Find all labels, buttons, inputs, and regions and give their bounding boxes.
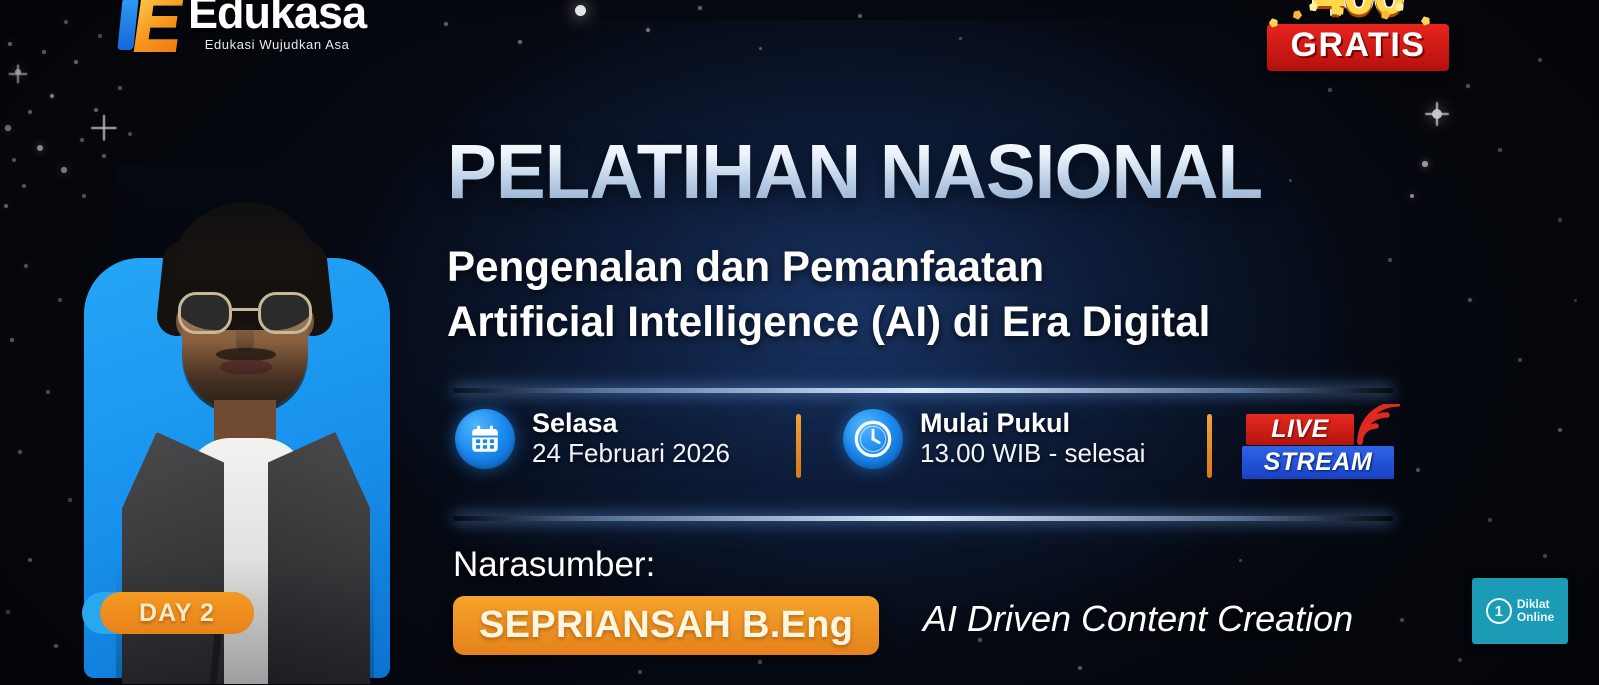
speaker-name-box: SEPRIANSAH B.Eng (453, 596, 879, 655)
star-dot (54, 644, 59, 649)
star-dot (58, 298, 61, 301)
poster-content: PELATIHAN NASIONAL Pengenalan dan Pemanf… (447, 0, 1397, 685)
star-dot (1518, 358, 1521, 361)
event-date-item: Selasa 24 Februari 2026 (455, 408, 730, 469)
stream-label: STREAM (1242, 446, 1394, 479)
speaker-label: Narasumber: (453, 545, 655, 585)
star-dot (1400, 618, 1404, 622)
star-dot (1458, 658, 1461, 661)
star-dot (82, 194, 86, 198)
calendar-icon (455, 409, 515, 469)
speaker-photo-block: DAY 2 (72, 250, 412, 685)
star-dot (50, 94, 54, 98)
brand-name: Edukasa (188, 0, 366, 35)
star-dot (28, 558, 32, 562)
star-dot (1422, 161, 1427, 166)
star-dot (1574, 299, 1577, 302)
event-time-value: 13.00 WIB - selesai (920, 438, 1145, 469)
star-dot (118, 86, 121, 89)
day-badge-label: DAY 2 (100, 592, 254, 634)
star-dot (37, 145, 43, 151)
watermark-diklat-online: 1 Diklat Online (1472, 578, 1568, 644)
edukasa-e-logo-icon (118, 0, 180, 54)
star-dot (22, 184, 26, 188)
star-dot (1543, 554, 1547, 558)
live-label: LIVE (1246, 414, 1354, 445)
star-dot (24, 264, 28, 268)
star-dot (1538, 58, 1542, 62)
star-dot (42, 50, 46, 54)
star-dot (80, 138, 83, 141)
brand-tagline: Edukasi Wujudkan Asa (205, 37, 350, 52)
page-title: PELATIHAN NASIONAL (447, 134, 1369, 211)
star-dot (61, 167, 67, 173)
clock-icon (843, 409, 903, 469)
divider-top (453, 388, 1393, 393)
event-time-label: Mulai Pukul (920, 408, 1145, 438)
star-dot (5, 125, 10, 130)
watermark-line-2: Online (1517, 611, 1554, 624)
divider-bottom (453, 516, 1393, 521)
webinar-poster: Edukasa Edukasi Wujudkan Asa 400 GRATIS (0, 0, 1599, 685)
star-dot (1466, 84, 1470, 88)
speaker-name: SEPRIANSAH B.Eng (479, 604, 853, 647)
star-dot (18, 450, 22, 454)
divider-vertical-1 (796, 414, 801, 478)
divider-vertical-2 (1207, 414, 1212, 478)
brand-logo-text: Edukasa Edukasi Wujudkan Asa (188, 0, 366, 52)
star-dot (1416, 468, 1420, 472)
star-dot (74, 60, 78, 64)
star-dot (4, 204, 8, 208)
star-dot (64, 20, 68, 24)
event-date-text: Selasa 24 Februari 2026 (532, 408, 730, 469)
subtitle-line-1: Pengenalan dan Pemanfaatan (447, 243, 1044, 291)
day-badge: DAY 2 (82, 592, 254, 634)
star-dot (46, 390, 50, 394)
page-subtitle: Pengenalan dan Pemanfaatan Artificial In… (447, 240, 1329, 349)
event-time-text: Mulai Pukul 13.00 WIB - selesai (920, 408, 1145, 469)
live-stream-badge: LIVE STREAM (1242, 414, 1394, 480)
star-dot (28, 110, 32, 114)
diklat-online-logo-icon: 1 (1486, 598, 1512, 624)
subtitle-line-2: Artificial Intelligence (AI) di Era Digi… (447, 295, 1329, 350)
event-day-label: Selasa (532, 408, 730, 438)
star-dot (1410, 194, 1415, 199)
star-dot (1432, 109, 1442, 119)
star-dot (10, 338, 14, 342)
broadcast-waves-icon (1348, 404, 1400, 450)
star-dot (1488, 518, 1491, 521)
star-dot (1558, 428, 1562, 432)
star-dot (102, 154, 106, 158)
event-info-bar: Selasa 24 Februari 2026 Mulai Puku (447, 404, 1397, 490)
brand-logo: Edukasa Edukasi Wujudkan Asa (118, 0, 366, 54)
star-dot (8, 42, 13, 47)
watermark-text: Diklat Online (1517, 598, 1554, 624)
star-dot (1558, 218, 1561, 221)
star-dot (1498, 148, 1501, 151)
star-dot (12, 158, 16, 162)
star-dot (6, 610, 10, 614)
star-dot (1468, 298, 1472, 302)
event-date-value: 24 Februari 2026 (532, 438, 730, 469)
event-time-item: Mulai Pukul 13.00 WIB - selesai (843, 408, 1145, 469)
star-dot (98, 34, 101, 37)
star-dot (128, 132, 132, 136)
star-dot (15, 69, 21, 75)
speaker-topic: AI Driven Content Creation (923, 598, 1353, 640)
star-dot (94, 108, 99, 113)
